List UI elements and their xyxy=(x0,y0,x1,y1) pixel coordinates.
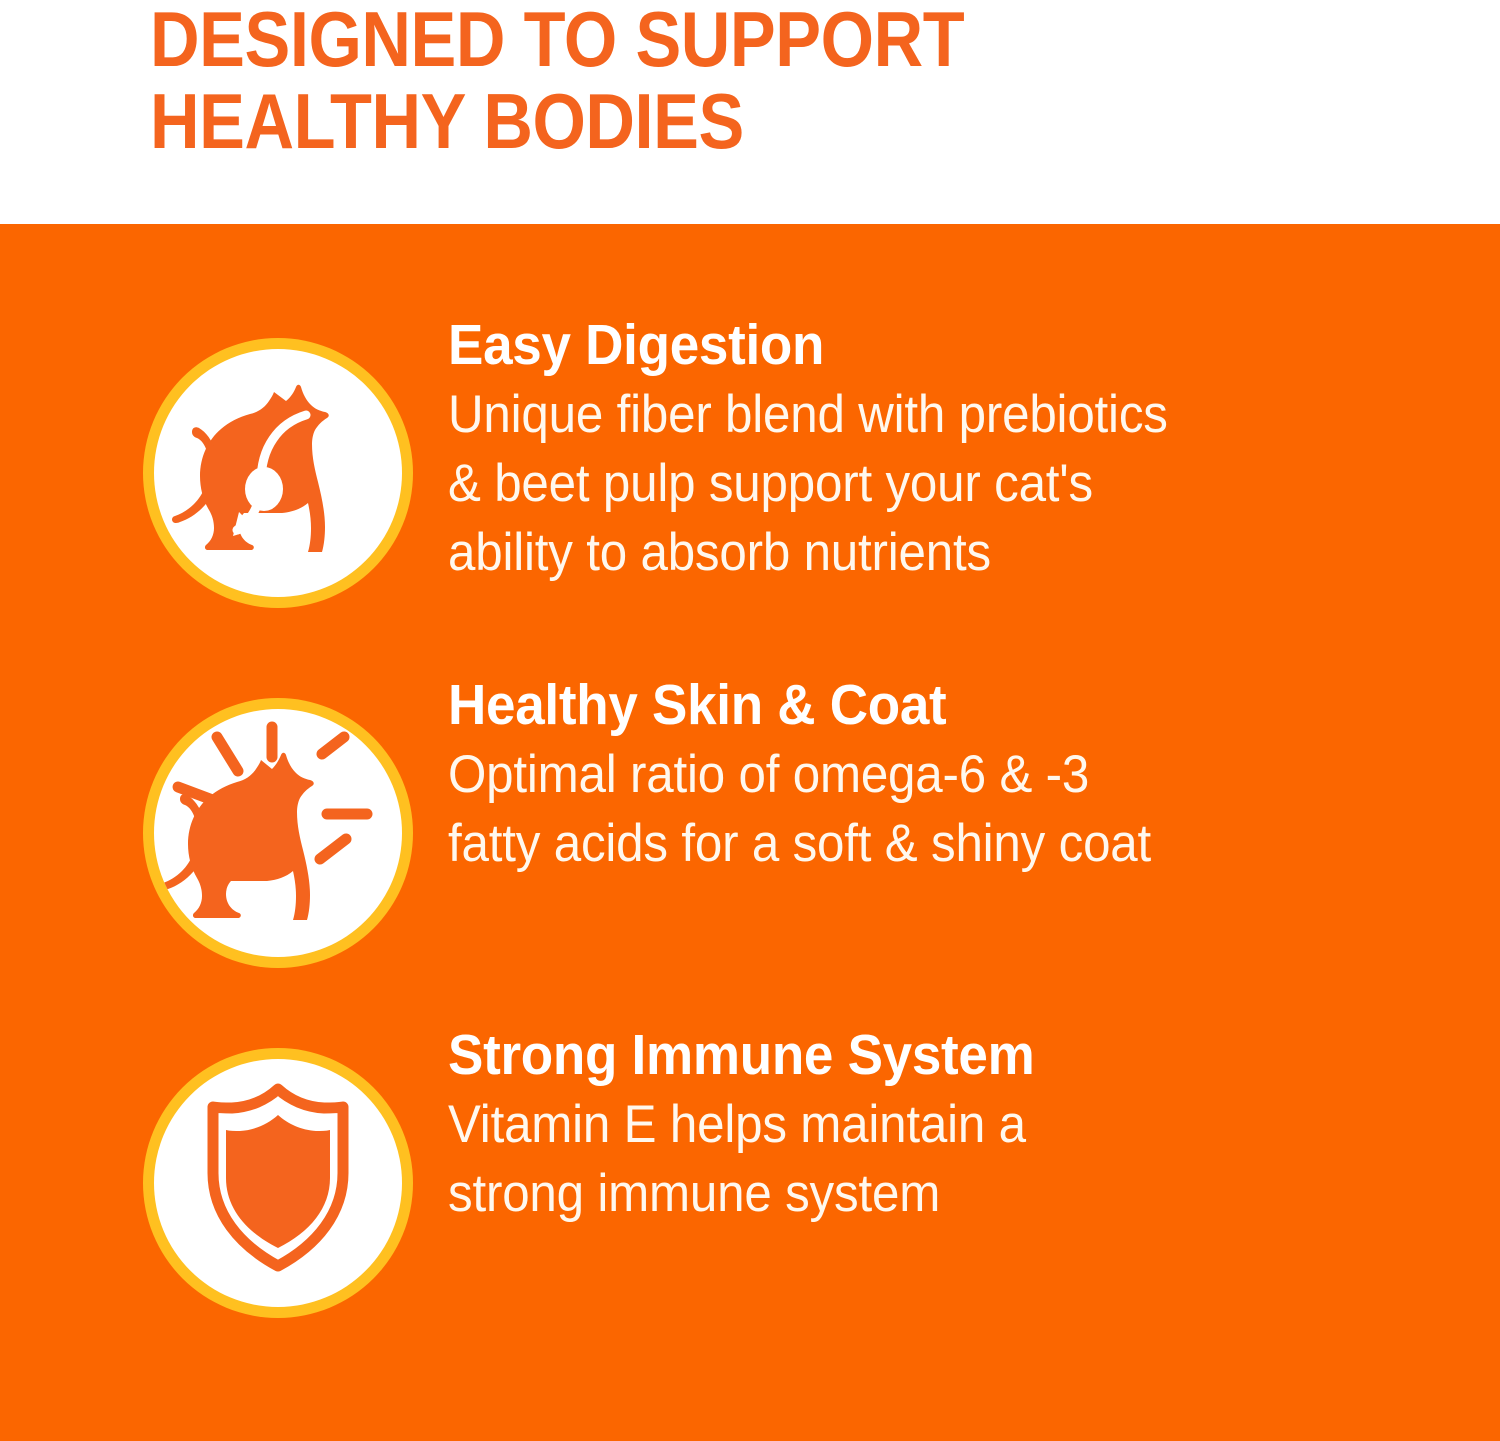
feature-icon-badge xyxy=(143,698,413,968)
shield-icon xyxy=(154,1059,402,1307)
feature-text-block: Healthy Skin & Coat Optimal ratio of ome… xyxy=(448,674,1478,878)
feature-title: Strong Immune System xyxy=(448,1024,1406,1086)
feature-title: Easy Digestion xyxy=(448,314,1406,376)
feature-title: Healthy Skin & Coat xyxy=(448,674,1406,736)
feature-text-block: Strong Immune System Vitamin E helps mai… xyxy=(448,1024,1478,1228)
sitting-cat-shine-rays-icon xyxy=(154,709,402,957)
feature-description: Unique fiber blend with prebiotics & bee… xyxy=(448,380,1406,587)
header-band: DESIGNED TO SUPPORT HEALTHY BODIES xyxy=(0,0,1500,224)
feature-text-block: Easy Digestion Unique fiber blend with p… xyxy=(448,314,1478,587)
promo-panel: DESIGNED TO SUPPORT HEALTHY BODIES xyxy=(0,0,1500,1441)
sitting-cat-digestion-arrow-icon xyxy=(154,349,402,597)
feature-icon-badge xyxy=(143,338,413,608)
feature-icon-badge xyxy=(143,1048,413,1318)
page-title: DESIGNED TO SUPPORT HEALTHY BODIES xyxy=(150,0,1206,162)
feature-description: Vitamin E helps maintain a strong immune… xyxy=(448,1090,1406,1228)
feature-description: Optimal ratio of omega-6 & -3 fatty acid… xyxy=(448,740,1406,878)
features-panel: Easy Digestion Unique fiber blend with p… xyxy=(0,224,1500,1441)
